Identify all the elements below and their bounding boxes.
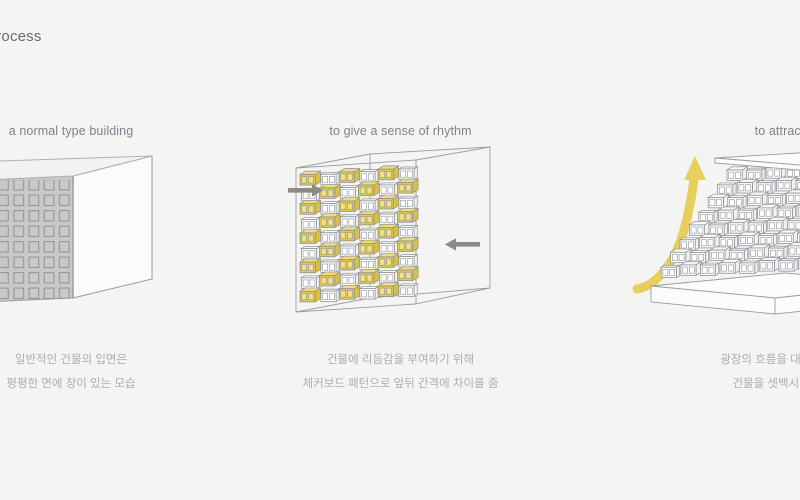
step-2-desc-line-1: 건물에 리듬감을 부여하기 위해 [278, 348, 523, 372]
step-2-caption: to give a sense of rhythm [278, 124, 523, 138]
step-3-description: 광장의 흐름을 대상지 내로 끌어들이 건물을 셋백시켜 계단식으로 디 [621, 348, 800, 396]
step-2-diagram [278, 146, 523, 321]
step-2-description: 건물에 리듬감을 부여하기 위해 체커보드 패턴으로 앞뒤 간격에 차이를 줌 [278, 348, 523, 396]
process-step-3: to attract a square [615, 0, 800, 500]
process-step-2: to give a sense of rhythm [278, 0, 523, 500]
step-3-desc-line-1: 광장의 흐름을 대상지 내로 끌어들이 [621, 348, 800, 372]
slide-canvas: Process a normal type building [0, 0, 800, 500]
step-3-desc-line-2: 건물을 셋백시켜 계단식으로 디 [621, 372, 800, 396]
step-3-diagram [615, 146, 800, 321]
facade-left-face [0, 176, 80, 306]
step-2-desc-line-2: 체커보드 패턴으로 앞뒤 간격에 차이를 줌 [278, 372, 523, 396]
facade-right-face [73, 156, 152, 298]
arrow-push-left-icon [445, 238, 480, 250]
step-1-caption: a normal type building [0, 124, 256, 138]
step-1-desc-line-1: 일반적인 건물의 입면은 [0, 348, 256, 372]
step-3-caption: to attract a square [621, 124, 800, 138]
massing-box-flat-facade-svg [0, 146, 260, 321]
base-plinth [651, 273, 800, 314]
checkerboard-modules [300, 166, 418, 302]
step-1-description: 일반적인 건물의 입면은 평평한 면에 창이 있는 모습 [0, 348, 256, 396]
step-1-diagram [0, 146, 260, 321]
process-step-1: a normal type building [0, 0, 260, 500]
step-1-desc-line-2: 평평한 면에 창이 있는 모습 [0, 372, 256, 396]
massing-box-checkerboard-svg [278, 146, 523, 321]
massing-stepped-setback-svg [615, 146, 800, 321]
